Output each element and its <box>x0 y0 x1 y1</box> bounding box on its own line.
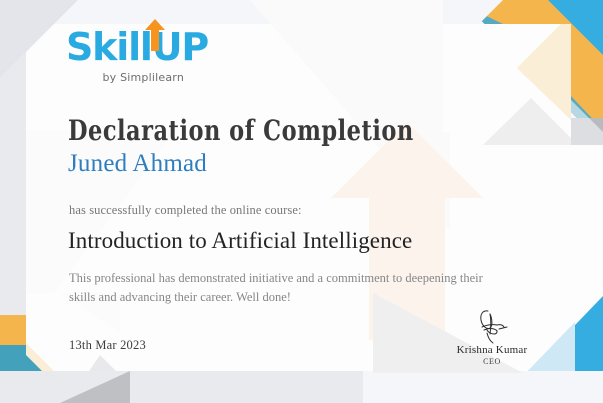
declaration-title: Declaration of Completion <box>68 114 414 146</box>
signatory-name: Krishna Kumar <box>437 344 547 356</box>
commendation-text: This professional has demonstrated initi… <box>69 269 501 308</box>
certificate-canvas: SkillUP by Simplilearn Declaration of Co… <box>0 0 603 403</box>
logo-text-p: P <box>181 25 208 69</box>
handwritten-signature-icon <box>437 308 547 344</box>
up-arrow-icon <box>145 19 165 51</box>
issue-date: 13th Mar 2023 <box>69 338 146 353</box>
recipient-name: Juned Ahmad <box>68 150 207 178</box>
logo-text-skill: Skill <box>66 25 152 69</box>
logo-tagline: by Simplilearn <box>66 71 184 84</box>
logo-wordmark: SkillUP <box>66 28 208 66</box>
skillup-logo: SkillUP by Simplilearn <box>66 28 208 84</box>
signature-block: Krishna Kumar CEO <box>437 308 547 366</box>
course-title: Introduction to Artificial Intelligence <box>68 228 412 254</box>
signatory-role: CEO <box>437 357 547 366</box>
completion-statement: has successfully completed the online co… <box>69 203 302 218</box>
